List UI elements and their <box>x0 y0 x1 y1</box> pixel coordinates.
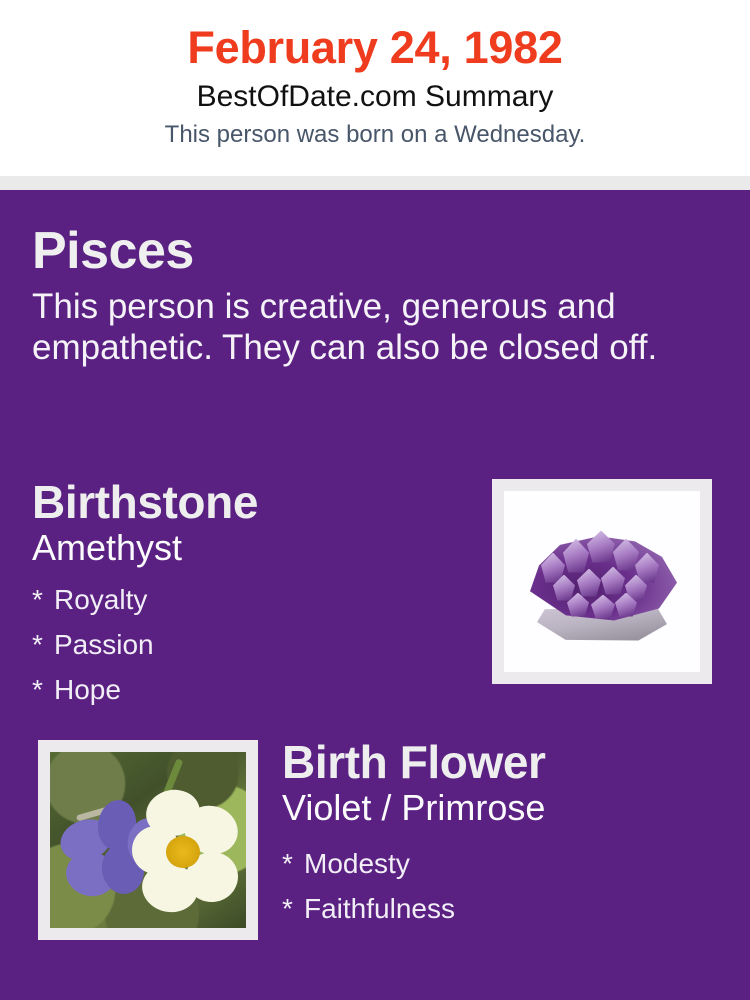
list-item: *Modesty <box>282 841 722 886</box>
bullet-star-icon: * <box>282 841 304 886</box>
birthstone-name: Amethyst <box>32 527 462 569</box>
bullet-star-icon: * <box>32 622 54 667</box>
primrose-center <box>166 836 200 868</box>
content-panel: Pisces This person is creative, generous… <box>0 190 750 1000</box>
bullet-star-icon: * <box>282 886 304 931</box>
birth-flower-heading: Birth Flower <box>282 735 722 789</box>
birth-flower-image <box>50 752 246 928</box>
birthstone-image-frame <box>492 479 712 684</box>
birthstone-image <box>504 491 700 672</box>
list-item: *Hope <box>32 667 462 712</box>
day-of-week-line: This person was born on a Wednesday. <box>0 119 750 151</box>
amethyst-crystal-illustration <box>523 523 681 641</box>
trait-label: Passion <box>54 629 154 660</box>
amethyst-crystal-point <box>587 531 615 563</box>
trait-label: Faithfulness <box>304 893 455 924</box>
bullet-star-icon: * <box>32 667 54 712</box>
trait-label: Hope <box>54 674 121 705</box>
list-item: *Royalty <box>32 577 462 622</box>
zodiac-description: This person is creative, generous and em… <box>32 286 704 368</box>
bullet-star-icon: * <box>32 577 54 622</box>
birth-flower-trait-list: *Modesty *Faithfulness <box>282 841 722 931</box>
birthstone-section: Birthstone Amethyst *Royalty *Passion *H… <box>32 475 462 712</box>
birthstone-heading: Birthstone <box>32 475 462 529</box>
birthstone-trait-list: *Royalty *Passion *Hope <box>32 577 462 712</box>
list-item: *Passion <box>32 622 462 667</box>
header: February 24, 1982 BestOfDate.com Summary… <box>0 0 750 176</box>
birth-flower-section: Birth Flower Violet / Primrose *Modesty … <box>282 735 722 931</box>
trait-label: Royalty <box>54 584 147 615</box>
summary-card: February 24, 1982 BestOfDate.com Summary… <box>0 0 750 1000</box>
zodiac-section: Pisces This person is creative, generous… <box>32 220 722 368</box>
list-item: *Faithfulness <box>282 886 722 931</box>
site-name: BestOfDate.com Summary <box>0 77 750 117</box>
trait-label: Modesty <box>304 848 410 879</box>
page-title-date: February 24, 1982 <box>0 22 750 74</box>
header-divider <box>0 176 750 190</box>
birth-flower-name: Violet / Primrose <box>282 787 722 829</box>
birth-flower-image-frame <box>38 740 258 940</box>
zodiac-sign-name: Pisces <box>32 220 722 282</box>
